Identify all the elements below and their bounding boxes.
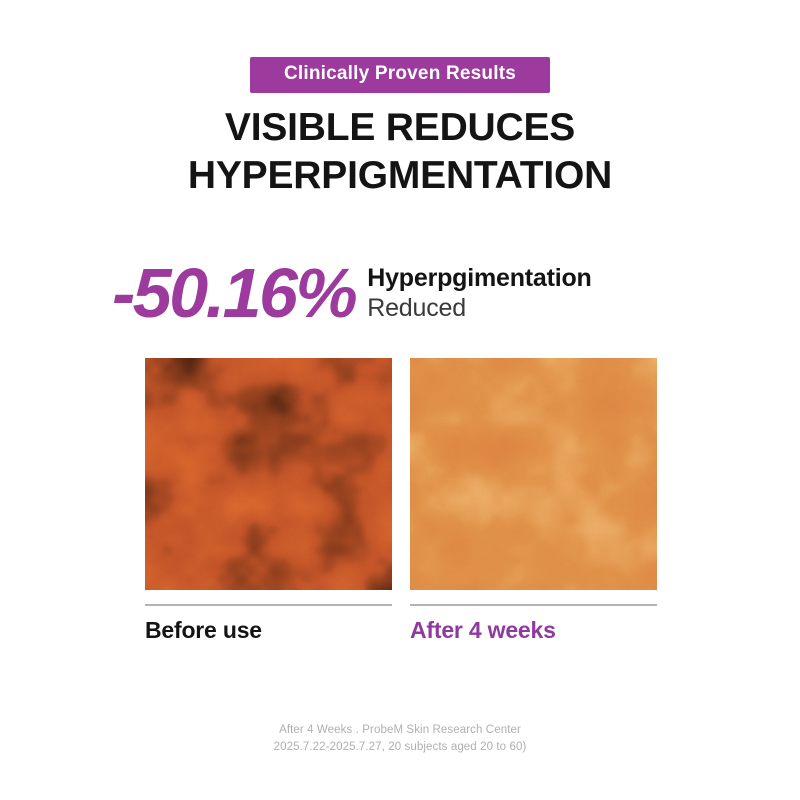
before-panel: Before use	[145, 358, 392, 644]
after-panel: After 4 weeks	[410, 358, 657, 644]
infographic-page: Clinically Proven Results VISIBLE REDUCE…	[0, 0, 800, 800]
stat-row: -50.16% Hyperpgimentation Reduced	[112, 252, 712, 328]
after-divider	[410, 604, 657, 606]
after-skin-swatch	[410, 358, 657, 590]
stat-caption: Hyperpgimentation Reduced	[367, 264, 591, 323]
study-footnote: After 4 Weeks . ProbeM Skin Research Cen…	[0, 722, 800, 755]
badge-row: Clinically Proven Results	[0, 57, 800, 93]
after-label: After 4 weeks	[410, 617, 657, 644]
before-after-comparison: Before use After 4 weeks	[145, 358, 657, 644]
headline-line-1: VISIBLE REDUCES	[0, 104, 800, 152]
before-label: Before use	[145, 617, 392, 644]
clinically-proven-badge: Clinically Proven Results	[250, 57, 550, 93]
footnote-line-2: 2025.7.22-2025.7.27, 20 subjects aged 20…	[0, 739, 800, 756]
reduction-percentage: -50.16%	[112, 258, 355, 328]
before-skin-image	[145, 358, 392, 590]
stat-caption-primary: Hyperpgimentation	[367, 264, 591, 294]
after-skin-image	[410, 358, 657, 590]
before-divider	[145, 604, 392, 606]
headline-line-2: HYPERPIGMENTATION	[0, 152, 800, 200]
footnote-line-1: After 4 Weeks . ProbeM Skin Research Cen…	[0, 722, 800, 739]
stat-caption-secondary: Reduced	[367, 294, 591, 324]
page-title: VISIBLE REDUCES HYPERPIGMENTATION	[0, 104, 800, 199]
before-skin-swatch	[145, 358, 392, 590]
